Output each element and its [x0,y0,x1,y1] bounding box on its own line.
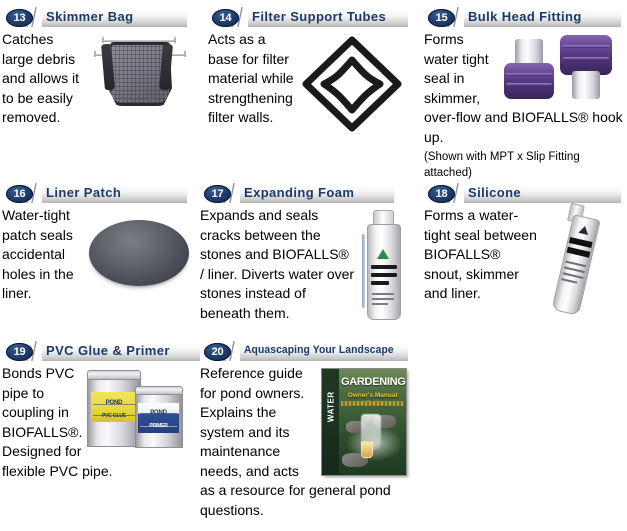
glue-can-small-stripe-2 [140,426,177,427]
can-triangle-logo [377,249,389,259]
liner-patch-disc [89,220,189,286]
card-17-description: Expands and seals cracks between the sto… [200,207,354,321]
glue-can-large-body: POND PVC GLUE [87,379,141,447]
book-glass [361,441,373,458]
glue-can-large-stripe-2 [93,415,135,416]
glue-can-large-stripe-1 [93,404,135,405]
card-20-header: 20 Aquascaping Your Landscape [200,340,415,361]
card-14-title: Filter Support Tubes [252,9,386,24]
bulkhead-right-pvc [572,71,600,99]
book-spine: WATER [322,369,339,475]
card-14-body-wrap: Acts as a base for filter material while… [208,27,408,128]
bulkhead-right-ring-2 [563,57,609,60]
filter-tube-svg [298,34,406,134]
card-20-number-badge: 20 [204,343,231,361]
glue-can-small: POND PRIMER [135,386,185,448]
card-17-number-badge: 17 [204,185,231,203]
card-19-body-wrap: POND PVC GLUE POND PRIMER [2,361,192,481]
card-14-number-badge: 14 [212,9,239,27]
card-13-description: Catches large debris and allows it to be… [2,31,79,125]
card-15-body-wrap: Forms water tight seal in skimmer, over-… [424,27,624,181]
book-decor-band [341,401,404,406]
bag-rod-cap-top-left [102,37,104,43]
can-fineprint-2 [372,298,394,300]
silicone-label-band-2 [567,247,591,258]
bulkhead-right-ring-1 [562,45,610,48]
can-fineprint-1 [372,293,394,295]
card-18-title: Silicone [468,185,521,200]
silicone-fineprint-1 [565,261,586,268]
card-19-number-badge: 19 [6,343,33,361]
bulkhead-right [558,33,616,103]
card-15-note: (Shown with MPT x Slip Fitting attached) [424,147,624,181]
card-17-body-wrap: Expands and seals cracks between the sto… [200,203,415,323]
card-17-title: Expanding Foam [244,185,354,200]
bulkhead-right-nut [560,35,612,75]
can-straw [362,234,365,308]
card-18-header: 18 Silicone [424,182,624,203]
glue-can-small-body: POND PRIMER [135,394,183,448]
silicone-tube-body [551,214,600,316]
card-14-header: 14 Filter Support Tubes [208,6,408,27]
bag-rod-cap-top-right [174,37,176,43]
book-cover: WATER GARDENING Owner's Manual and Guide… [321,368,407,476]
bulkhead-left-nut [504,63,554,99]
card-18-body-wrap: Forms a water-tight seal between BIOFALL… [424,203,624,304]
liner-patch-image [87,214,192,292]
bulk-head-fitting-image [500,33,620,105]
card-14: 14 Filter Support Tubes Acts as a base f… [208,6,408,171]
silicone-fineprint-4 [561,278,577,284]
glue-can-large-label: POND PVC GLUE [91,392,137,422]
card-17: 17 Expanding Foam Expands and seals crac… [200,182,415,332]
card-13-body-wrap: Catches large debris and allows it to be… [2,27,192,128]
card-20-title: Aquascaping Your Landscape [244,344,394,356]
silicone-label-band-1 [569,237,593,248]
can-fineprint-3 [372,303,388,305]
expanding-foam-can-image [361,210,407,320]
water-gardening-book-image: WATER GARDENING Owner's Manual and Guide… [321,368,407,476]
can-label-foam [371,281,389,285]
card-16-description: Water-tight patch seals accidental holes… [2,207,74,301]
filter-support-tube-image [298,34,406,134]
silicone-fineprint-2 [564,266,585,273]
card-18-number-badge: 18 [428,185,455,203]
card-13-title: Skimmer Bag [46,9,134,24]
card-16-body-wrap: Water-tight patch seals accidental holes… [2,203,192,304]
card-13-number-badge: 13 [6,9,33,27]
card-16-header: 16 Liner Patch [2,182,192,203]
card-18-description: Forms a water-tight seal between BIOFALL… [424,207,537,301]
card-15-title: Bulk Head Fitting [468,9,582,24]
card-18: 18 Silicone Forms a water-tight seal bet… [424,182,624,332]
bulkhead-left-ring-1 [505,73,553,76]
bag-rod-top [102,40,176,42]
card-16: 16 Liner Patch Water-tight patch seals a… [2,182,192,332]
card-16-number-badge: 16 [6,185,33,203]
book-spine-text: WATER [321,391,340,422]
card-19: 19 PVC Glue & Primer POND PVC GLUE [2,340,192,470]
card-15-header: 15 Bulk Head Fitting [424,6,624,27]
bag-rod-cap-right [184,51,186,57]
bulkhead-left [502,39,558,101]
card-15-number-badge: 15 [428,9,455,27]
skimmer-bag-image [88,32,188,112]
can-body [367,224,401,320]
pvc-glue-primer-image: POND PVC GLUE POND PRIMER [87,368,192,450]
card-14-description: Acts as a base for filter material while… [208,31,294,125]
silicone-triangle-logo [578,225,590,235]
silicone-tube-image [544,210,614,320]
card-19-title: PVC Glue & Primer [46,343,170,358]
glue-can-small-stripe-1 [140,413,177,414]
bag-rod-cap-left [94,51,96,57]
glue-can-small-product: PRIMER [138,417,179,433]
card-17-header: 17 Expanding Foam [200,182,415,203]
card-20-body-wrap: WATER GARDENING Owner's Manual and Guide… [200,361,415,520]
card-13-header: 13 Skimmer Bag [2,6,192,27]
can-label-black [371,265,397,269]
card-13: 13 Skimmer Bag Catches large debris and … [2,6,192,171]
bulkhead-left-ring-2 [506,83,552,86]
glue-can-small-label: POND PRIMER [138,403,179,433]
component-grid: 13 Skimmer Bag Catches large debris and … [0,0,627,531]
card-16-title: Liner Patch [46,185,121,200]
card-15: 15 Bulk Head Fitting F [424,6,624,178]
can-label-waterfall [371,273,397,277]
glue-can-large: POND PVC GLUE [87,370,141,446]
card-19-header: 19 PVC Glue & Primer [2,340,192,361]
card-20: 20 Aquascaping Your Landscape WATER GARD… [200,340,415,525]
silicone-fineprint-3 [563,272,584,279]
